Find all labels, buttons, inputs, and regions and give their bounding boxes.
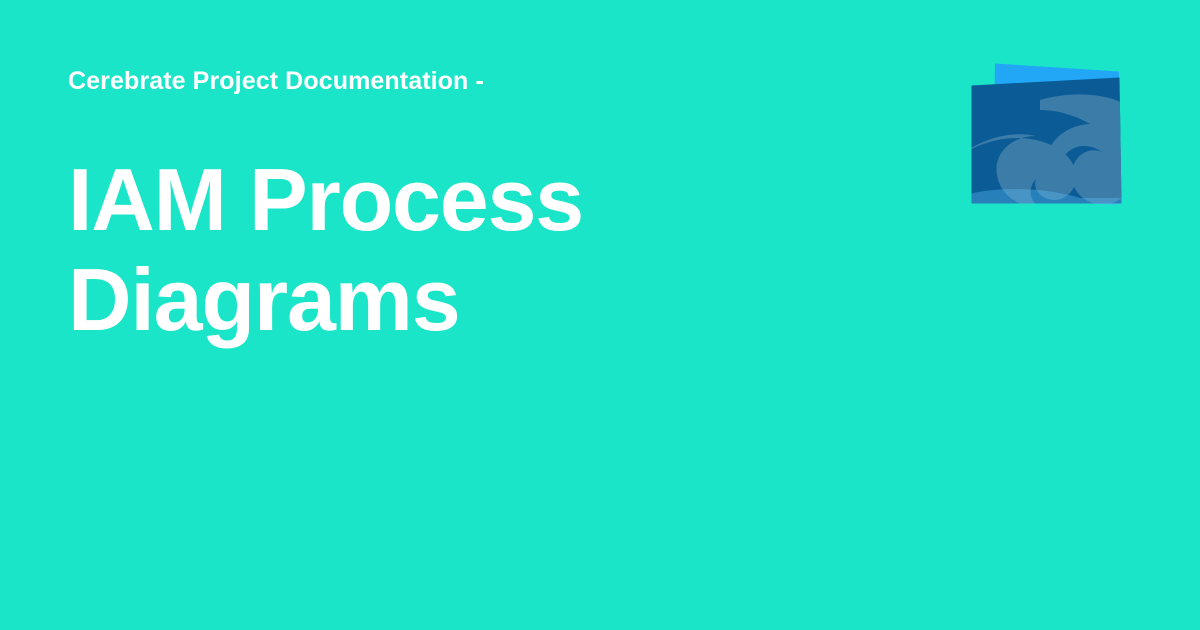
og-preview-card: Cerebrate Project Documentation - IAM Pr… <box>0 0 1200 630</box>
eyebrow-label: Cerebrate Project Documentation - <box>68 64 888 98</box>
cerebrate-logo-icon <box>960 48 1130 218</box>
card-content: Cerebrate Project Documentation - IAM Pr… <box>68 64 888 350</box>
page-title: IAM Process Diagrams <box>68 150 688 350</box>
